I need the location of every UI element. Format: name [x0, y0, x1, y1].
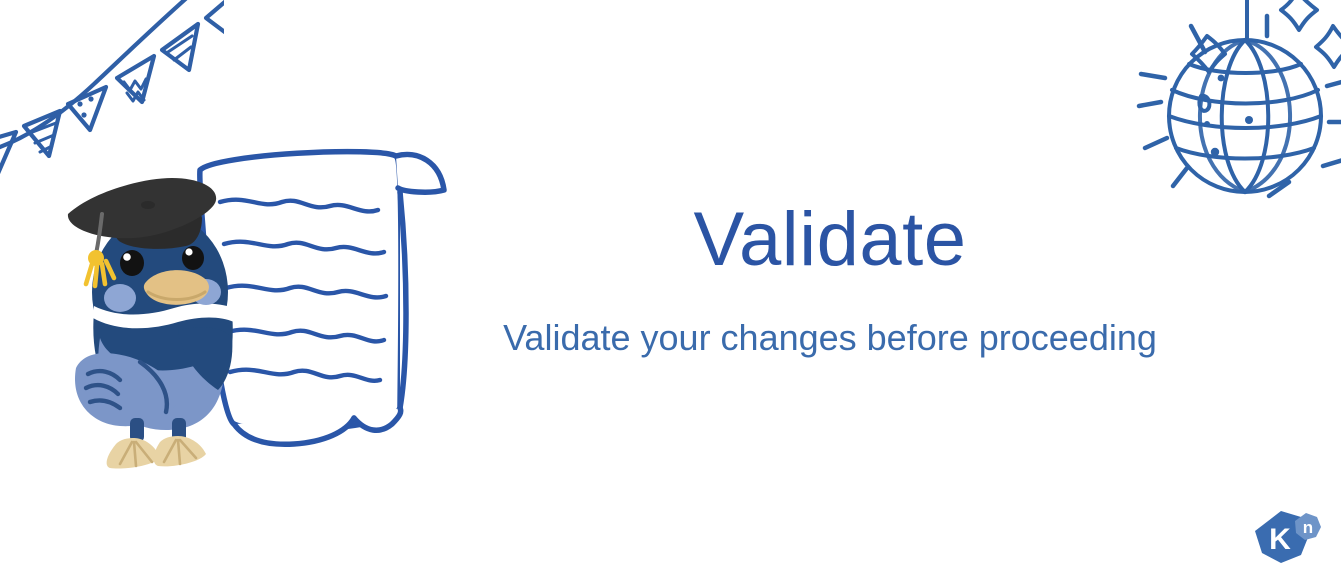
knative-logo: K n	[1251, 507, 1323, 573]
logo-letter-k: K	[1269, 523, 1291, 556]
bunting-decoration	[0, 0, 224, 192]
disco-ball-decoration	[1119, 0, 1341, 230]
page-title: Validate	[470, 200, 1190, 280]
logo-heptagon	[1255, 511, 1309, 563]
slide-root: Validate Validate your changes before pr…	[0, 0, 1341, 585]
logo-letter-n: n	[1303, 518, 1313, 537]
mascot-illustration	[48, 132, 468, 472]
logo-secondary-shape	[1295, 513, 1321, 540]
page-subtitle: Validate your changes before proceeding	[470, 316, 1190, 359]
hero-text-block: Validate Validate your changes before pr…	[470, 200, 1190, 359]
